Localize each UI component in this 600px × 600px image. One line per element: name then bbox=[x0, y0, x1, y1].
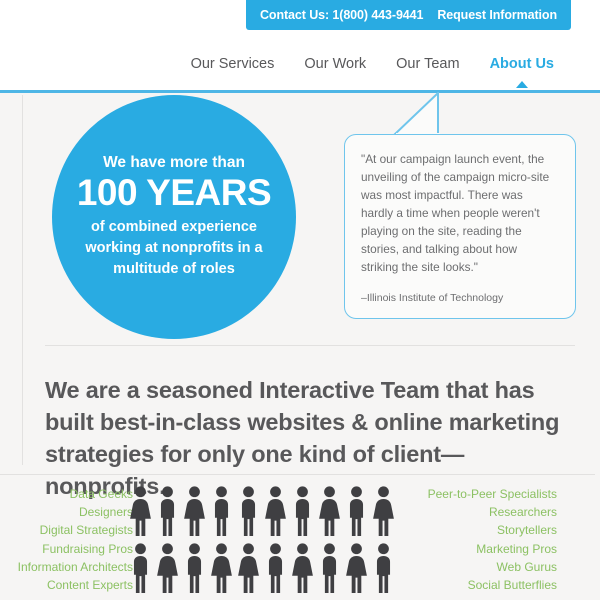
headline-top-divider bbox=[45, 345, 575, 346]
person-male-icon bbox=[344, 485, 369, 537]
role-item: Web Gurus bbox=[405, 558, 557, 576]
role-item: Social Butterflies bbox=[405, 576, 557, 594]
person-female-icon bbox=[128, 485, 153, 537]
person-female-icon bbox=[209, 542, 234, 594]
person-female-icon bbox=[182, 485, 207, 537]
role-item: Designers bbox=[0, 503, 133, 521]
nav-item-about-us-label: About Us bbox=[490, 56, 554, 72]
years-badge: We have more than 100 YEARS of combined … bbox=[52, 95, 296, 339]
person-male-icon bbox=[317, 542, 342, 594]
years-badge-subtext: of combined experience working at nonpro… bbox=[74, 217, 274, 280]
request-information-link[interactable]: Request Information bbox=[437, 9, 557, 22]
page-root: Contact Us: 1(800) 443-9441 Request Info… bbox=[0, 0, 600, 600]
people-pictogram bbox=[128, 485, 400, 599]
role-item: Researchers bbox=[405, 503, 557, 521]
person-female-icon bbox=[236, 542, 261, 594]
person-male-icon bbox=[182, 542, 207, 594]
role-item: Storytellers bbox=[405, 521, 557, 539]
role-item: Digital Strategists bbox=[0, 521, 133, 539]
role-item: Peer-to-Peer Specialists bbox=[405, 485, 557, 503]
person-female-icon bbox=[155, 542, 180, 594]
years-badge-intro: We have more than bbox=[103, 154, 245, 173]
person-male-icon bbox=[371, 542, 396, 594]
nav-item-our-services[interactable]: Our Services bbox=[191, 52, 275, 72]
active-tab-caret-icon bbox=[516, 81, 528, 88]
person-female-icon bbox=[263, 485, 288, 537]
people-row-1 bbox=[128, 485, 400, 537]
nav-item-our-work[interactable]: Our Work bbox=[304, 52, 366, 72]
role-item: Content Experts bbox=[0, 576, 133, 594]
nav-item-about-us[interactable]: About Us bbox=[490, 52, 554, 72]
headline-bottom-divider bbox=[0, 474, 595, 475]
role-item: Data Geeks bbox=[0, 485, 133, 503]
nav-item-our-team[interactable]: Our Team bbox=[396, 52, 459, 72]
person-female-icon bbox=[317, 485, 342, 537]
person-female-icon bbox=[290, 542, 315, 594]
main-navigation: Our Services Our Work Our Team About Us bbox=[0, 52, 600, 89]
roles-list-left: Data Geeks Designers Digital Strategists… bbox=[0, 485, 133, 594]
people-row-2 bbox=[128, 542, 400, 594]
left-vertical-divider bbox=[22, 95, 23, 465]
role-item: Information Architects bbox=[0, 558, 133, 576]
top-utility-bar: Contact Us: 1(800) 443-9441 Request Info… bbox=[246, 0, 571, 30]
person-male-icon bbox=[128, 542, 153, 594]
testimonial-attribution: –Illinois Institute of Technology bbox=[361, 292, 557, 304]
person-male-icon bbox=[236, 485, 261, 537]
testimonial-bubble: "At our campaign launch event, the unvei… bbox=[344, 134, 576, 319]
speech-bubble-tail-icon bbox=[392, 92, 452, 136]
content-area: We have more than 100 YEARS of combined … bbox=[0, 93, 600, 600]
person-male-icon bbox=[290, 485, 315, 537]
years-badge-headline: 100 YEARS bbox=[77, 174, 271, 213]
testimonial-quote: "At our campaign launch event, the unvei… bbox=[361, 151, 557, 276]
person-male-icon bbox=[209, 485, 234, 537]
roles-list-right: Peer-to-Peer Specialists Researchers Sto… bbox=[405, 485, 557, 594]
person-female-icon bbox=[344, 542, 369, 594]
person-male-icon bbox=[155, 485, 180, 537]
person-female-icon bbox=[371, 485, 396, 537]
person-male-icon bbox=[263, 542, 288, 594]
role-item: Fundraising Pros bbox=[0, 540, 133, 558]
contact-us-link[interactable]: Contact Us: 1(800) 443-9441 bbox=[260, 9, 423, 22]
role-item: Marketing Pros bbox=[405, 540, 557, 558]
page-headline: We are a seasoned Interactive Team that … bbox=[45, 374, 575, 503]
